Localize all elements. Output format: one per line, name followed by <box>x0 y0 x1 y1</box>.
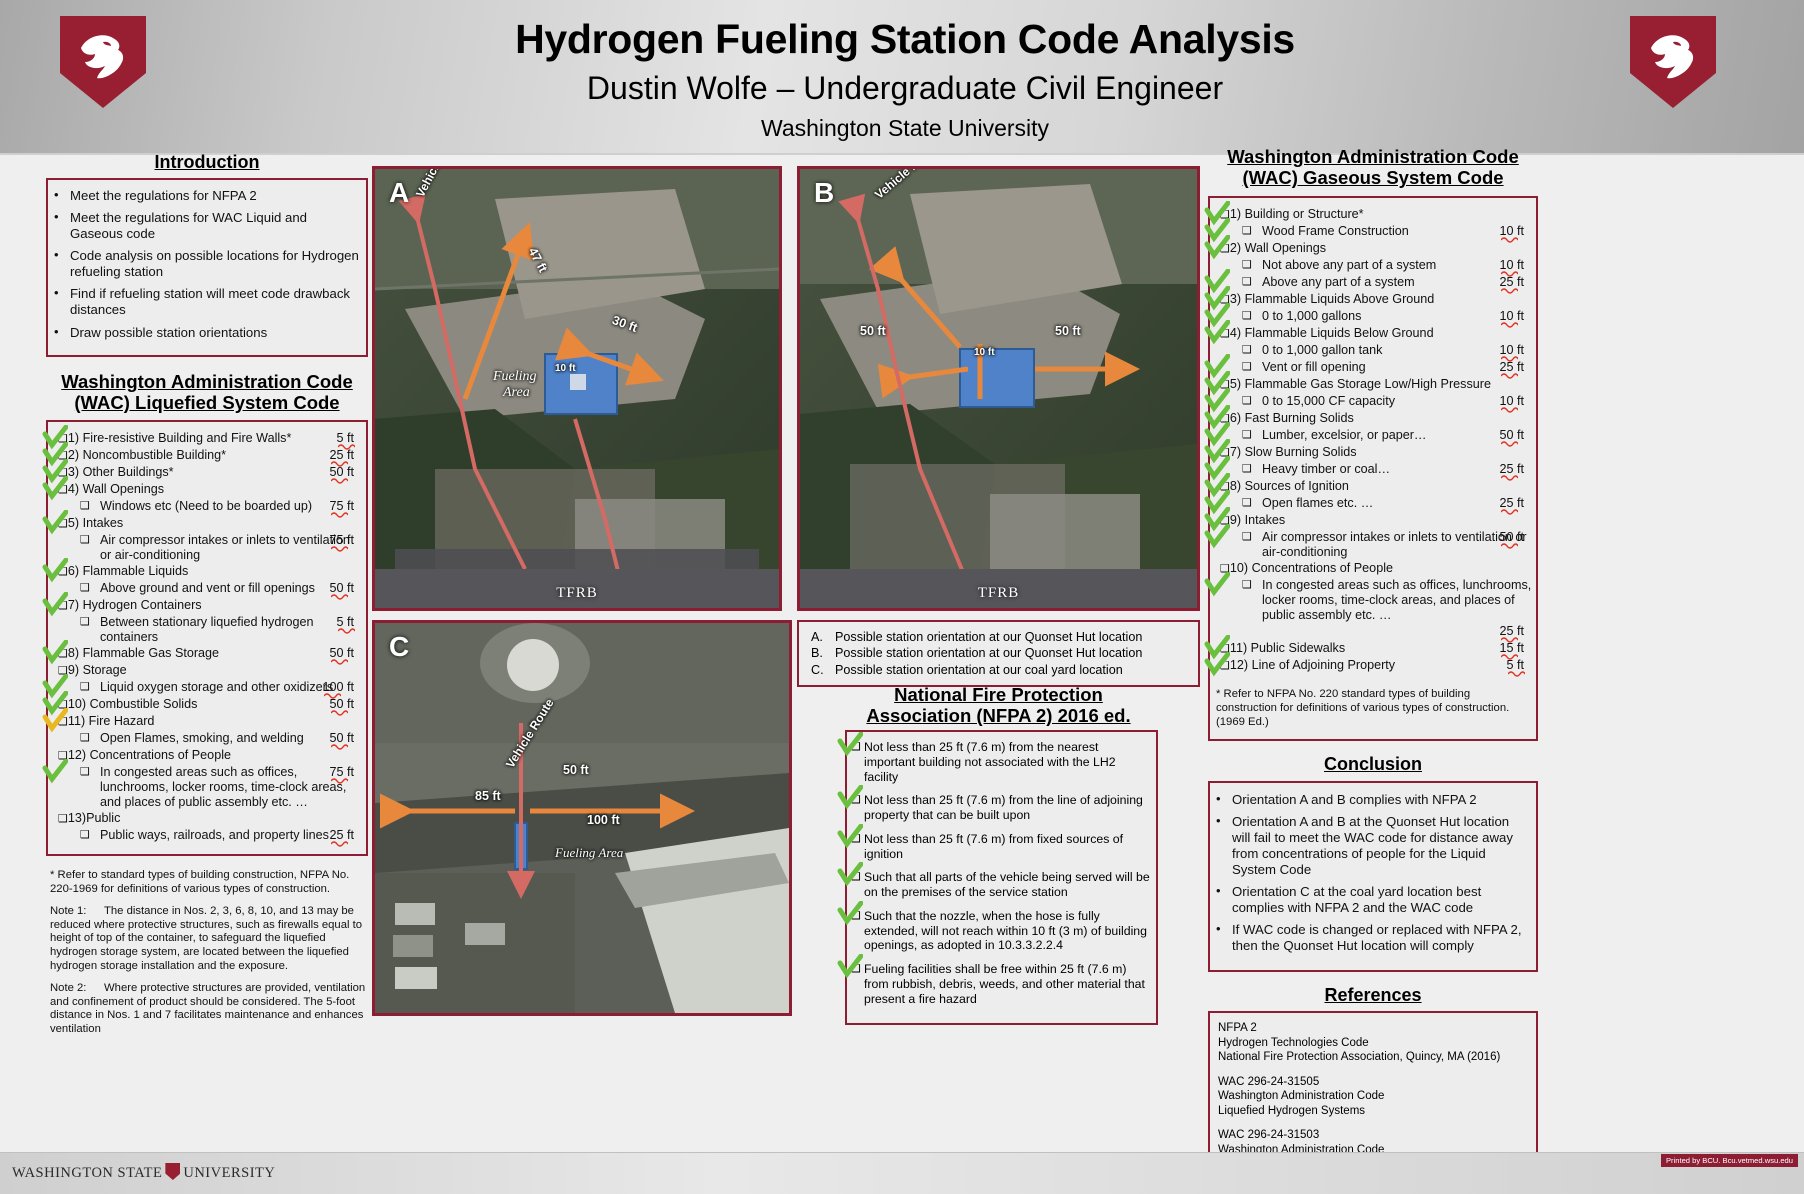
wac-liquefied-item-row: ❑12) Concentrations of People <box>54 748 362 764</box>
dimension-c-1: 50 ft <box>563 763 589 777</box>
wac-gaseous-item-value: 5 ft <box>1506 658 1524 673</box>
wac-gaseous-item-sublabel: Not above any part of a system <box>1262 258 1436 273</box>
wac-gaseous-heading-line1: Washington Administration Code <box>1208 146 1538 167</box>
wac-gaseous-item-value: 25 ft <box>1499 496 1524 511</box>
wac-gaseous-item-row: ❑Not above any part of a system10 ft <box>1216 258 1532 274</box>
wac-liquefied-item-sublabel: Windows etc (Need to be boarded up) <box>100 499 312 514</box>
wac-gaseous-item-row: ❑Vent or fill opening25 ft <box>1216 360 1532 376</box>
wac-gaseous-item-row: ❑1) Building or Structure* <box>1216 207 1532 223</box>
wac-liquefied-item-label: 5) Intakes <box>68 516 123 531</box>
reference-line: Hydrogen Technologies Code <box>1218 1036 1528 1050</box>
checkbox-icon[interactable]: ❑ <box>851 740 861 753</box>
wac-liquefied-item-value: 5 ft <box>336 615 354 630</box>
wac-liquefied-item-label: 1) Fire-resistive Building and Fire Wall… <box>68 431 292 446</box>
cougar-icon <box>73 28 133 90</box>
wac-liquefied-item-row: ❑2) Noncombustible Building*25 ft <box>54 448 362 464</box>
wac-liquefied-item-value: 25 ft <box>329 448 354 463</box>
introduction-bullet-list: Meet the regulations for NFPA 2Meet the … <box>48 188 360 341</box>
wac-gaseous-item-value: 10 ft <box>1499 343 1524 358</box>
wac-gaseous-item-sublabel: Wood Frame Construction <box>1262 224 1409 239</box>
fueling-area-label-c: Fueling Area <box>555 845 623 861</box>
liquefied-notes-block: * Refer to standard types of building co… <box>46 869 368 1037</box>
checkbox-icon[interactable]: ❑ <box>1220 480 1230 493</box>
wac-gaseous-item-label: 1) Building or Structure* <box>1230 207 1364 222</box>
wac-gaseous-item-sublabel: 0 to 15,000 CF capacity <box>1262 394 1395 409</box>
wac-liquefied-item-value: 25 ft <box>329 828 354 843</box>
wac-gaseous-item-label: 10) Concentrations of People <box>1230 561 1393 576</box>
dimension-c-3: 100 ft <box>587 813 620 827</box>
legend-row: B.Possible station orientation at our Qu… <box>805 645 1192 661</box>
wac-liquefied-item-value: 50 ft <box>329 697 354 712</box>
dimension-c-2: 85 ft <box>475 789 501 803</box>
wac-gaseous-item-value: 10 ft <box>1499 258 1524 273</box>
wac-gaseous-item-value: 25 ft <box>1499 462 1524 477</box>
checkbox-icon[interactable]: ❑ <box>1220 293 1230 306</box>
wac-gaseous-item-row: ❑9) Intakes <box>1216 513 1532 529</box>
wac-liquefied-item-value: 5 ft <box>336 431 354 446</box>
aerial-image-a <box>375 169 779 608</box>
wac-gaseous-footnote: * Refer to NFPA No. 220 standard types o… <box>1216 688 1532 729</box>
checkbox-icon[interactable]: ❑ <box>80 680 90 693</box>
wac-liquefied-item-row: ❑Liquid oxygen storage and other oxidize… <box>54 680 362 696</box>
wac-liquefied-item-value: 75 ft <box>329 533 354 548</box>
legend-letter: A. <box>811 629 823 645</box>
liquefied-note-1: Note 1:The distance in Nos. 2, 3, 6, 8, … <box>50 905 368 974</box>
nfpa-panel: ❑Not less than 25 ft (7.6 m) from the ne… <box>845 730 1158 1025</box>
wac-liquefied-item-row: ❑Windows etc (Need to be boarded up)75 f… <box>54 499 362 515</box>
wac-gaseous-item-label: 5) Flammable Gas Storage Low/High Pressu… <box>1230 377 1491 392</box>
reference-line: Washington Administration Code <box>1218 1089 1528 1103</box>
wac-liquefied-item-row: ❑13)Public <box>54 811 362 827</box>
nfpa-item: ❑Not less than 25 ft (7.6 m) from the li… <box>851 793 1150 823</box>
checkbox-icon[interactable]: ❑ <box>1220 327 1230 340</box>
nfpa-heading-line1: National Fire Protection <box>797 684 1200 705</box>
wac-liquefied-item-label: 9) Storage <box>68 663 127 678</box>
wac-gaseous-item-row: ❑0 to 1,000 gallons10 ft <box>1216 309 1532 325</box>
checkbox-icon[interactable]: ❑ <box>851 962 861 975</box>
wac-liquefied-item-value: 50 ft <box>329 581 354 596</box>
wac-liquefied-item-label: 3) Other Buildings* <box>68 465 174 480</box>
wac-gaseous-item-value: 10 ft <box>1499 309 1524 324</box>
checkbox-icon[interactable]: ❑ <box>80 499 90 512</box>
legend-text: Possible station orientation at our Quon… <box>835 630 1142 644</box>
wac-liquefied-item-row: ❑5) Intakes <box>54 516 362 532</box>
wac-gaseous-item-row: ❑8) Sources of Ignition <box>1216 479 1532 495</box>
checkbox-icon[interactable]: ❑ <box>1220 208 1230 221</box>
wac-gaseous-item-row: ❑In congested areas such as offices, lun… <box>1216 578 1532 623</box>
wac-liquefied-item-row: ❑Air compressor intakes or inlets to ven… <box>54 533 362 563</box>
reference-line: WAC 296-24-31505 <box>1218 1075 1528 1089</box>
checkbox-icon[interactable]: ❑ <box>1220 378 1230 391</box>
wac-liquefied-item-row: ❑10) Combustible Solids50 ft <box>54 697 362 713</box>
wac-liquefied-item-sublabel: Between stationary liquefied hydrogen co… <box>100 615 362 645</box>
fueling-area-label-a-line1: Fueling <box>493 369 537 385</box>
wac-gaseous-item-row: ❑4) Flammable Liquids Below Ground <box>1216 326 1532 342</box>
wordmark-right-text: UNIVERSITY <box>183 1165 275 1181</box>
wac-gaseous-item-label: 7) Slow Burning Solids <box>1230 445 1357 460</box>
wac-gaseous-item-sublabel: Heavy timber or coal… <box>1262 462 1390 477</box>
wac-liquefied-item-value: 50 ft <box>329 731 354 746</box>
references-heading: References <box>1208 985 1538 1006</box>
wac-gaseous-item-sublabel: In congested areas such as offices, lunc… <box>1262 578 1532 623</box>
wac-liquefied-item-sublabel: In congested areas such as offices, lunc… <box>100 765 362 810</box>
checkbox-icon[interactable]: ❑ <box>58 664 68 677</box>
wac-gaseous-item-value: 15 ft <box>1499 641 1524 656</box>
reference-block: NFPA 2Hydrogen Technologies CodeNational… <box>1218 1021 1528 1064</box>
reference-line: Liquefied Hydrogen Systems <box>1218 1104 1528 1118</box>
wac-gaseous-item-sublabel: 0 to 1,000 gallon tank <box>1262 343 1382 358</box>
wac-gaseous-item-label: 11) Public Sidewalks <box>1230 641 1345 656</box>
nfpa-item-text: Such that the nozzle, when the hose is f… <box>864 909 1147 953</box>
reference-line: WAC 296-24-31503 <box>1218 1128 1528 1142</box>
wac-liquefied-item-row: ❑3) Other Buildings*50 ft <box>54 465 362 481</box>
nfpa-item-text: Fueling facilities shall be free within … <box>864 962 1145 1006</box>
checkbox-icon[interactable]: ❑ <box>58 517 68 530</box>
wac-liquefied-item-row: ❑4) Wall Openings <box>54 482 362 498</box>
wac-gaseous-item-value: 50 ft <box>1499 428 1524 443</box>
wac-liquefied-item-sublabel: Above ground and vent or fill openings <box>100 581 315 596</box>
wac-liquefied-item-row: ❑Between stationary liquefied hydrogen c… <box>54 615 362 645</box>
note1-label: Note 1: <box>50 905 104 919</box>
wac-gaseous-item-row: 25 ft <box>1216 624 1532 640</box>
reference-line: NFPA 2 <box>1218 1021 1528 1035</box>
wac-gaseous-item-row: ❑Open flames etc. …25 ft <box>1216 496 1532 512</box>
wac-gaseous-heading: Washington Administration Code (WAC) Gas… <box>1208 146 1538 189</box>
wsu-logo-left <box>60 16 146 120</box>
checkbox-icon[interactable]: ❑ <box>58 749 68 762</box>
conclusion-bullet: Orientation C at the coal yard location … <box>1210 884 1530 916</box>
nfpa-item-text: Such that all parts of the vehicle being… <box>864 870 1150 899</box>
photo-label-b: B <box>814 177 834 209</box>
wac-liquefied-item-sublabel: Open Flames, smoking, and welding <box>100 731 304 746</box>
aerial-photo-a[interactable]: A Vehicle Route 47 ft 30 ft 10 ft Fuelin… <box>372 166 782 611</box>
checkbox-icon[interactable]: ❑ <box>80 533 90 546</box>
page-title: Hydrogen Fueling Station Code Analysis <box>330 16 1480 63</box>
fueling-area-label-a-line2: Area <box>503 385 530 401</box>
wac-liquefied-item-row: ❑Above ground and vent or fill openings5… <box>54 581 362 597</box>
wac-gaseous-item-value: 25 ft <box>1499 275 1524 290</box>
wac-liquefied-item-row: ❑9) Storage <box>54 663 362 679</box>
reference-block: WAC 296-24-31505Washington Administratio… <box>1218 1075 1528 1118</box>
site-label-b: TFRB <box>800 585 1197 602</box>
wac-liquefied-item-value: 75 ft <box>329 499 354 514</box>
dimension-a-3: 10 ft <box>555 363 576 374</box>
wac-liquefied-heading-line1: Washington Administration Code <box>46 371 368 392</box>
wac-liquefied-item-label: 7) Hydrogen Containers <box>68 598 202 613</box>
introduction-bullet: Meet the regulations for NFPA 2 <box>48 188 360 204</box>
wac-liquefied-item-row: ❑6) Flammable Liquids <box>54 564 362 580</box>
nfpa-item-text: Not less than 25 ft (7.6 m) from fixed s… <box>864 832 1123 861</box>
wac-liquefied-item-row: ❑Public ways, railroads, and property li… <box>54 828 362 844</box>
wac-gaseous-item-value: 25 ft <box>1499 360 1524 375</box>
wac-gaseous-item-value: 10 ft <box>1499 394 1524 409</box>
wac-liquefied-item-label: 4) Wall Openings <box>68 482 164 497</box>
introduction-bullet: Find if refueling station will meet code… <box>48 286 360 318</box>
wac-liquefied-item-value: 50 ft <box>329 465 354 480</box>
left-column: Introduction Meet the regulations for NF… <box>46 152 368 1045</box>
wac-liquefied-heading: Washington Administration Code (WAC) Liq… <box>46 371 368 414</box>
wac-liquefied-heading-line2: (WAC) Liquefied System Code <box>46 392 368 413</box>
checkbox-icon[interactable]: ❑ <box>80 581 90 594</box>
dimension-b-2: 50 ft <box>1055 324 1081 338</box>
liquefied-footnote: * Refer to standard types of building co… <box>50 869 368 897</box>
wac-liquefied-item-value: 100 ft <box>322 680 354 695</box>
legend-row: C.Possible station orientation at our co… <box>805 662 1192 678</box>
wac-gaseous-item-sublabel: Lumber, excelsior, or paper… <box>1262 428 1427 443</box>
wac-gaseous-item-row: ❑6) Fast Burning Solids <box>1216 411 1532 427</box>
cougar-icon <box>1643 28 1703 90</box>
wac-liquefied-item-label: 2) Noncombustible Building* <box>68 448 226 463</box>
wsu-wordmark: WASHINGTON STATEUNIVERSITY <box>12 1163 275 1182</box>
checkbox-icon[interactable]: ❑ <box>80 828 90 841</box>
checkbox-icon[interactable]: ❑ <box>851 870 861 883</box>
legend-text: Possible station orientation at our Quon… <box>835 646 1142 660</box>
conclusion-bullet-list: Orientation A and B complies with NFPA 2… <box>1210 792 1530 955</box>
dimension-b-1: 50 ft <box>860 324 886 338</box>
wsu-shield-icon <box>165 1163 180 1180</box>
legend-letter: B. <box>811 645 823 661</box>
wordmark-left-text: WASHINGTON STATE <box>12 1165 162 1181</box>
nfpa-item-text: Not less than 25 ft (7.6 m) from the nea… <box>864 740 1116 784</box>
wac-gaseous-item-row: ❑Air compressor intakes or inlets to ven… <box>1216 530 1532 560</box>
checkbox-icon[interactable]: ❑ <box>58 565 68 578</box>
checkbox-icon[interactable]: ❑ <box>1242 496 1252 509</box>
wac-gaseous-item-row: ❑2) Wall Openings <box>1216 241 1532 257</box>
wac-gaseous-item-row: ❑Wood Frame Construction10 ft <box>1216 224 1532 240</box>
wac-gaseous-item-row: ❑7) Slow Burning Solids <box>1216 445 1532 461</box>
checkbox-icon[interactable]: ❑ <box>1242 578 1252 591</box>
checkbox-icon[interactable]: ❑ <box>80 615 90 628</box>
wac-liquefied-item-label: 8) Flammable Gas Storage <box>68 646 219 661</box>
wac-liquefied-item-row: ❑11) Fire Hazard <box>54 714 362 730</box>
wac-liquefied-item-row: ❑In congested areas such as offices, lun… <box>54 765 362 810</box>
checkbox-icon[interactable]: ❑ <box>1220 659 1230 672</box>
checkbox-icon[interactable]: ❑ <box>851 793 861 806</box>
conclusion-bullet: Orientation A and B at the Quonset Hut l… <box>1210 814 1530 878</box>
checkbox-icon[interactable]: ❑ <box>1220 514 1230 527</box>
nfpa-item: ❑Such that the nozzle, when the hose is … <box>851 909 1150 953</box>
checkbox-icon[interactable]: ❑ <box>80 731 90 744</box>
introduction-bullet: Draw possible station orientations <box>48 325 360 341</box>
checkbox-icon[interactable]: ❑ <box>58 432 68 445</box>
checkbox-icon[interactable]: ❑ <box>58 698 68 711</box>
aerial-photo-c[interactable]: C Vehicle Route 50 ft 85 ft 100 ft Fueli… <box>372 620 792 1016</box>
conclusion-bullet: Orientation A and B complies with NFPA 2 <box>1210 792 1530 808</box>
reference-line: National Fire Protection Association, Qu… <box>1218 1050 1528 1064</box>
wac-gaseous-item-label: 4) Flammable Liquids Below Ground <box>1230 326 1434 341</box>
nfpa-item: ❑Such that all parts of the vehicle bein… <box>851 870 1150 900</box>
wac-liquefied-item-label: 12) Concentrations of People <box>68 748 231 763</box>
wac-gaseous-item-row: ❑0 to 1,000 gallon tank10 ft <box>1216 343 1532 359</box>
checkbox-icon[interactable]: ❑ <box>58 647 68 660</box>
wac-gaseous-item-value: 25 ft <box>1499 624 1524 639</box>
right-column: Washington Administration Code (WAC) Gas… <box>1208 146 1538 1192</box>
checkbox-icon[interactable]: ❑ <box>851 909 861 922</box>
wac-liquefied-item-label: 10) Combustible Solids <box>68 697 198 712</box>
wac-gaseous-item-label: 9) Intakes <box>1230 513 1285 528</box>
nfpa-heading-line2: Association (NFPA 2) 2016 ed. <box>797 705 1200 726</box>
wac-liquefied-item-sublabel: Public ways, railroads, and property lin… <box>100 828 329 843</box>
wac-liquefied-item-sublabel: Liquid oxygen storage and other oxidizer… <box>100 680 333 695</box>
wac-liquefied-item-value: 50 ft <box>329 646 354 661</box>
checkbox-icon[interactable]: ❑ <box>1242 309 1252 322</box>
liquefied-note-2: Note 2:Where protective structures are p… <box>50 982 368 1037</box>
nfpa-heading: National Fire Protection Association (NF… <box>797 684 1200 727</box>
wac-gaseous-item-row: ❑11) Public Sidewalks15 ft <box>1216 641 1532 657</box>
dimension-b-3: 10 ft <box>974 347 995 358</box>
checkbox-icon[interactable]: ❑ <box>1220 446 1230 459</box>
aerial-photo-b[interactable]: B Vehicle Route 50 ft 50 ft 10 ft TFRB <box>797 166 1200 611</box>
checkbox-icon[interactable]: ❑ <box>58 812 68 825</box>
wac-gaseous-item-value: 50 ft <box>1499 530 1524 545</box>
wac-gaseous-item-sublabel: Open flames etc. … <box>1262 496 1373 511</box>
wsu-logo-right <box>1630 16 1716 120</box>
checkbox-icon[interactable]: ❑ <box>1242 258 1252 271</box>
nfpa-item: ❑Not less than 25 ft (7.6 m) from fixed … <box>851 832 1150 862</box>
note2-label: Note 2: <box>50 982 104 996</box>
legend-letter: C. <box>811 662 824 678</box>
introduction-heading: Introduction <box>46 152 368 173</box>
wac-gaseous-item-sublabel: Above any part of a system <box>1262 275 1415 290</box>
introduction-bullet: Meet the regulations for WAC Liquid and … <box>48 210 360 242</box>
checkbox-icon[interactable]: ❑ <box>1220 242 1230 255</box>
introduction-bullet: Code analysis on possible locations for … <box>48 248 360 280</box>
wac-liquefied-item-label: 6) Flammable Liquids <box>68 564 188 579</box>
wac-gaseous-item-label: 2) Wall Openings <box>1230 241 1326 256</box>
checkbox-icon[interactable]: ❑ <box>1242 394 1252 407</box>
wac-liquefied-item-label: 11) Fire Hazard <box>68 714 155 729</box>
checkbox-icon[interactable]: ❑ <box>80 765 90 778</box>
poster-author: Dustin Wolfe – Undergraduate Civil Engin… <box>330 70 1480 107</box>
wac-gaseous-panel: ❑1) Building or Structure*❑Wood Frame Co… <box>1208 196 1538 741</box>
wac-gaseous-item-row: ❑5) Flammable Gas Storage Low/High Press… <box>1216 377 1532 393</box>
conclusion-panel: Orientation A and B complies with NFPA 2… <box>1208 781 1538 972</box>
checkbox-icon[interactable]: ❑ <box>1242 275 1252 288</box>
checkbox-icon[interactable]: ❑ <box>58 483 68 496</box>
wac-gaseous-item-row: ❑12) Line of Adjoining Property5 ft <box>1216 658 1532 674</box>
checkbox-icon[interactable]: ❑ <box>1242 462 1252 475</box>
conclusion-bullet: If WAC code is changed or replaced with … <box>1210 922 1530 954</box>
print-credit: Printed by BCU. Bcu.vetmed.wsu.edu <box>1661 1154 1798 1167</box>
aerial-image-c <box>375 623 789 1013</box>
wac-gaseous-item-row: ❑10) Concentrations of People <box>1216 561 1532 577</box>
checkbox-icon[interactable]: ❑ <box>851 832 861 845</box>
nfpa-item-text: Not less than 25 ft (7.6 m) from the lin… <box>864 793 1143 822</box>
conclusion-heading: Conclusion <box>1208 754 1538 775</box>
wac-gaseous-heading-line2: (WAC) Gaseous System Code <box>1208 167 1538 188</box>
checkbox-icon[interactable]: ❑ <box>58 599 68 612</box>
introduction-panel: Meet the regulations for NFPA 2Meet the … <box>46 178 368 357</box>
wac-gaseous-item-label: 12) Line of Adjoining Property <box>1230 658 1395 673</box>
wac-gaseous-item-sublabel: 0 to 1,000 gallons <box>1262 309 1361 324</box>
wac-gaseous-item-row: ❑0 to 15,000 CF capacity10 ft <box>1216 394 1532 410</box>
legend-text: Possible station orientation at our coal… <box>835 663 1123 677</box>
wac-gaseous-item-row: ❑3) Flammable Liquids Above Ground <box>1216 292 1532 308</box>
orientation-legend-panel: A.Possible station orientation at our Qu… <box>797 620 1200 687</box>
checkbox-icon[interactable]: ❑ <box>58 466 68 479</box>
wac-gaseous-item-label: 8) Sources of Ignition <box>1230 479 1349 494</box>
wac-gaseous-item-sublabel: Air compressor intakes or inlets to vent… <box>1262 530 1532 560</box>
poster-affiliation: Washington State University <box>330 115 1480 142</box>
aerial-image-b <box>800 169 1197 608</box>
wac-gaseous-item-row: ❑Lumber, excelsior, or paper…50 ft <box>1216 428 1532 444</box>
photo-label-a: A <box>389 177 409 209</box>
checkbox-icon[interactable]: ❑ <box>1220 642 1230 655</box>
checkbox-icon[interactable]: ❑ <box>1242 360 1252 373</box>
wac-liquefied-item-row: ❑Open Flames, smoking, and welding50 ft <box>54 731 362 747</box>
wac-gaseous-item-label: 3) Flammable Liquids Above Ground <box>1230 292 1434 307</box>
poster-footer: WASHINGTON STATEUNIVERSITY Printed by BC… <box>0 1152 1804 1194</box>
wac-gaseous-item-sublabel: Vent or fill opening <box>1262 360 1366 375</box>
wac-liquefied-item-row: ❑7) Hydrogen Containers <box>54 598 362 614</box>
checkbox-icon[interactable]: ❑ <box>1220 412 1230 425</box>
photo-label-c: C <box>389 631 409 663</box>
wac-liquefied-item-row: ❑1) Fire-resistive Building and Fire Wal… <box>54 431 362 447</box>
wac-gaseous-item-label: 6) Fast Burning Solids <box>1230 411 1354 426</box>
wac-gaseous-item-row: ❑Heavy timber or coal…25 ft <box>1216 462 1532 478</box>
checkbox-icon[interactable]: ❑ <box>1242 428 1252 441</box>
nfpa-item: ❑Fueling facilities shall be free within… <box>851 962 1150 1006</box>
wac-liquefied-panel: ❑1) Fire-resistive Building and Fire Wal… <box>46 420 368 857</box>
nfpa-item: ❑Not less than 25 ft (7.6 m) from the ne… <box>851 740 1150 784</box>
site-label-a: TFRB <box>375 585 779 602</box>
wac-gaseous-item-row: ❑Above any part of a system25 ft <box>1216 275 1532 291</box>
checkbox-icon[interactable]: ❑ <box>1242 224 1252 237</box>
wac-liquefied-item-label: 13)Public <box>68 811 121 826</box>
checkbox-icon[interactable]: ❑ <box>1242 530 1252 543</box>
checkbox-icon[interactable]: ❑ <box>1242 343 1252 356</box>
poster-header: Hydrogen Fueling Station Code Analysis D… <box>0 0 1804 155</box>
legend-row: A.Possible station orientation at our Qu… <box>805 629 1192 645</box>
checkbox-icon[interactable]: ❑ <box>58 449 68 462</box>
checkbox-icon[interactable]: ❑ <box>58 715 68 728</box>
wac-gaseous-item-value: 10 ft <box>1499 224 1524 239</box>
wac-liquefied-item-sublabel: Air compressor intakes or inlets to vent… <box>100 533 362 563</box>
checkbox-icon[interactable]: ❑ <box>1220 562 1230 575</box>
wac-liquefied-item-row: ❑8) Flammable Gas Storage50 ft <box>54 646 362 662</box>
wac-liquefied-item-value: 75 ft <box>329 765 354 780</box>
